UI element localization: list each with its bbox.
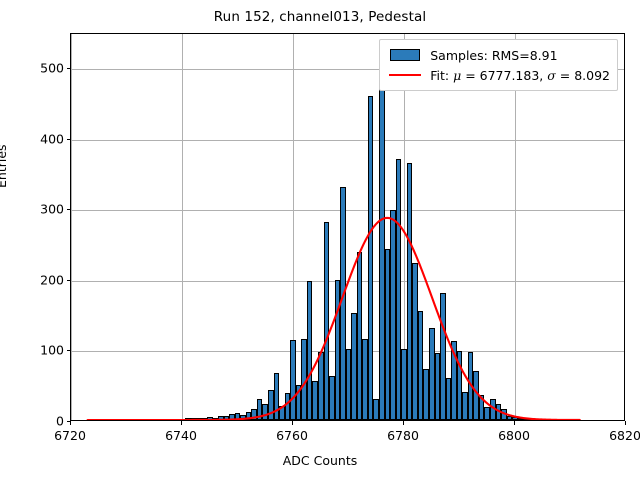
y-tick-mark <box>67 68 71 69</box>
legend-swatch-samples <box>386 49 424 61</box>
gridline-x-6740 <box>182 34 183 420</box>
x-tick-mark <box>70 421 71 425</box>
y-tick-label-0: 0 <box>26 414 64 429</box>
y-tick-mark <box>67 209 71 210</box>
gridline-y-400 <box>71 140 624 141</box>
y-tick-label-500: 500 <box>26 61 64 76</box>
x-tick-label-6820: 6820 <box>609 428 640 443</box>
gridline-x-6720 <box>71 34 72 420</box>
gridline-y-200 <box>71 281 624 282</box>
y-axis-label: Entries <box>0 144 9 188</box>
chart-title: Run 152, channel013, Pedestal <box>0 9 640 25</box>
y-tick-label-100: 100 <box>26 343 64 358</box>
x-tick-mark <box>181 421 182 425</box>
legend-label-fit: Fit: μ = 6777.183, σ = 8.092 <box>424 68 610 83</box>
x-tick-mark <box>403 421 404 425</box>
x-tick-mark <box>514 421 515 425</box>
x-tick-mark <box>625 421 626 425</box>
y-tick-mark <box>67 280 71 281</box>
gridline-y-300 <box>71 210 624 211</box>
gridline-x-6800 <box>515 34 516 420</box>
y-tick-mark <box>67 139 71 140</box>
legend-item-samples: Samples: RMS=8.91 <box>386 45 610 65</box>
plot-area <box>71 34 624 420</box>
x-axis-label: ADC Counts <box>0 453 640 468</box>
y-tick-mark <box>67 421 71 422</box>
legend-item-fit: Fit: μ = 6777.183, σ = 8.092 <box>386 65 610 85</box>
x-tick-label-6760: 6760 <box>276 428 308 443</box>
legend-label-samples: Samples: RMS=8.91 <box>424 48 557 63</box>
y-tick-mark <box>67 350 71 351</box>
y-tick-label-300: 300 <box>26 202 64 217</box>
y-tick-label-200: 200 <box>26 272 64 287</box>
histogram-bar <box>529 418 535 420</box>
x-tick-label-6740: 6740 <box>165 428 197 443</box>
plot-axes: Samples: RMS=8.91 Fit: μ = 6777.183, σ =… <box>70 33 625 421</box>
x-tick-label-6720: 6720 <box>54 428 86 443</box>
histogram-bar <box>368 96 374 420</box>
x-tick-label-6800: 6800 <box>498 428 530 443</box>
x-tick-mark <box>292 421 293 425</box>
chart-legend[interactable]: Samples: RMS=8.91 Fit: μ = 6777.183, σ =… <box>379 39 618 91</box>
figure-canvas: Run 152, channel013, Pedestal Samples: R… <box>0 0 640 480</box>
x-tick-label-6780: 6780 <box>387 428 419 443</box>
legend-swatch-fit <box>386 74 424 76</box>
y-tick-label-400: 400 <box>26 131 64 146</box>
